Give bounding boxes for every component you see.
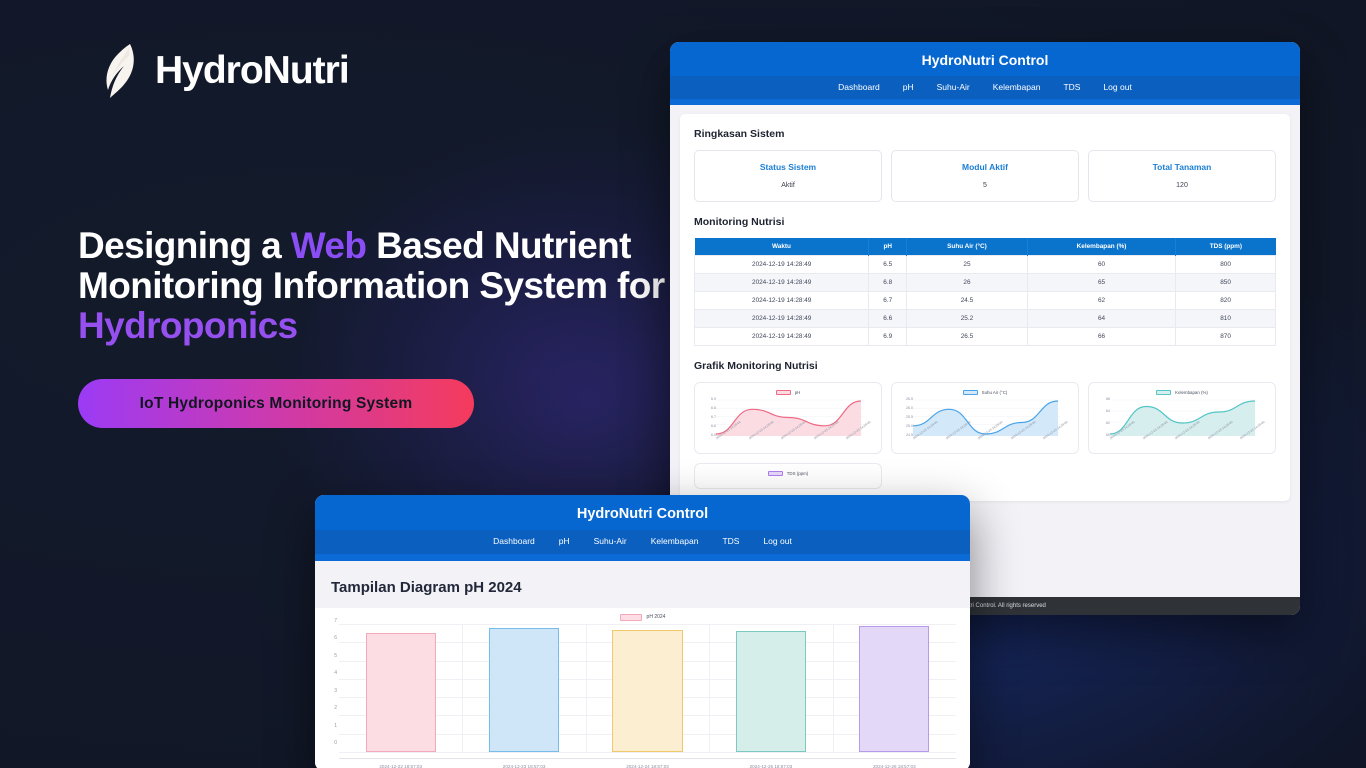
bar-slot (339, 624, 462, 752)
bar[interactable] (612, 630, 682, 753)
table-cell: 6.9 (869, 328, 907, 346)
card-value: 120 (1093, 182, 1271, 189)
table-row: 2024-12-19 14:28:496.82665850 (695, 274, 1276, 292)
table-cell: 2024-12-19 14:28:49 (695, 292, 869, 310)
x-tick: 2024-12-24 18:57:03 (586, 764, 709, 768)
table-cell: 25 (907, 256, 1028, 274)
nav-item-logout[interactable]: Log out (1103, 82, 1131, 92)
table-cell: 26 (907, 274, 1028, 292)
table-column-header: Suhu Air (°C) (907, 238, 1028, 256)
chart-legend: Kelembapan (%) (1094, 390, 1270, 395)
ph-chart-window[interactable]: HydroNutri Control Dashboard pH Suhu-Air… (315, 495, 970, 768)
table-cell: 6.7 (869, 292, 907, 310)
table-cell: 66 (1027, 328, 1175, 346)
nav-item-tds[interactable]: TDS (1063, 82, 1080, 92)
legend-label: Kelembapan (%) (1175, 390, 1208, 395)
table-row: 2024-12-19 14:28:496.926.566870 (695, 328, 1276, 346)
chart-legend: pH (700, 390, 876, 395)
chart-card-kelembapan[interactable]: Kelembapan (%)666462602024-12-19 14:28:4… (1088, 382, 1276, 454)
bar[interactable] (859, 626, 929, 752)
bar[interactable] (489, 628, 559, 752)
table-body: 2024-12-19 14:28:496.525608002024-12-19 … (695, 256, 1276, 346)
legend-swatch-icon (768, 471, 783, 476)
table-cell: 850 (1176, 274, 1276, 292)
legend-swatch-icon (620, 614, 642, 621)
navbar[interactable]: Dashboard pH Suhu-Air Kelembapan TDS Log… (315, 530, 970, 554)
app-title: HydroNutri Control (315, 495, 970, 530)
legend-label: pH 2024 (647, 614, 666, 620)
legend-label: pH (795, 390, 801, 395)
chart-legend: Suhu Air (°C) (897, 390, 1073, 395)
y-tick: 6 (321, 635, 337, 641)
mini-charts-row-2: TDS (ppm) (694, 454, 1276, 489)
y-tick: 0 (321, 740, 337, 746)
card-title: Total Tanaman (1093, 162, 1271, 172)
brand-name: HydroNutri (155, 49, 349, 93)
headline-highlight-hydroponics: Hydroponics (78, 305, 298, 346)
y-tick: 2 (321, 705, 337, 711)
legend-swatch-icon (1156, 390, 1171, 395)
table-row: 2024-12-19 14:28:496.625.264810 (695, 310, 1276, 328)
mini-charts-row: pH6.96.86.76.66.52024-12-19 14:28:492024… (694, 382, 1276, 454)
summary-card-status: Status Sistem Aktif (694, 150, 882, 202)
bar-slot (462, 624, 585, 752)
chart-legend-tds: TDS (ppm) (700, 471, 876, 476)
y-tick: 3 (321, 688, 337, 694)
table-cell: 2024-12-19 14:28:49 (695, 310, 869, 328)
monitoring-table: WaktupHSuhu Air (°C)Kelembapan (%)TDS (p… (694, 238, 1276, 346)
cta-badge[interactable]: IoT Hydroponics Monitoring System (78, 379, 474, 428)
table-cell: 800 (1176, 256, 1276, 274)
nav-item-kelembapan[interactable]: Kelembapan (993, 82, 1041, 92)
navbar-accent-strip (315, 554, 970, 561)
table-cell: 2024-12-19 14:28:49 (695, 256, 869, 274)
x-axis-ticks: 2024-12-19 14:28:492024-12-19 14:28:4920… (897, 437, 1073, 441)
table-cell: 25.2 (907, 310, 1028, 328)
summary-card-tanaman: Total Tanaman 120 (1088, 150, 1276, 202)
navbar[interactable]: Dashboard pH Suhu-Air Kelembapan TDS Log… (670, 76, 1300, 99)
summary-cards: Status Sistem Aktif Modul Aktif 5 Total … (694, 150, 1276, 202)
dashboard-panel: Ringkasan Sistem Status Sistem Aktif Mod… (680, 114, 1290, 501)
legend-label: TDS (ppm) (787, 471, 808, 476)
nav-item-dashboard[interactable]: Dashboard (493, 536, 535, 546)
card-title: Modul Aktif (896, 162, 1074, 172)
table-row: 2024-12-19 14:28:496.724.562820 (695, 292, 1276, 310)
nav-item-tds[interactable]: TDS (722, 536, 739, 546)
nav-item-suhu-air[interactable]: Suhu-Air (937, 82, 970, 92)
table-cell: 24.5 (907, 292, 1028, 310)
bar-plot-area (339, 624, 956, 752)
table-column-header: Waktu (695, 238, 869, 256)
summary-card-modul: Modul Aktif 5 (891, 150, 1079, 202)
chart-card-ph[interactable]: pH6.96.86.76.66.52024-12-19 14:28:492024… (694, 382, 882, 454)
charts-section-title: Grafik Monitoring Nutrisi (694, 360, 1276, 372)
y-axis-ticks: 76543210 (321, 618, 337, 746)
headline-part1: Designing a (78, 225, 291, 266)
navbar-accent-strip (670, 99, 1300, 105)
legend-swatch-icon (776, 390, 791, 395)
x-axis-ticks: 2024-12-19 14:28:492024-12-19 14:28:4920… (1094, 437, 1270, 441)
nav-item-ph[interactable]: pH (559, 536, 570, 546)
table-cell: 64 (1027, 310, 1175, 328)
nav-item-kelembapan[interactable]: Kelembapan (651, 536, 699, 546)
nav-item-ph[interactable]: pH (903, 82, 914, 92)
leaf-icon (100, 42, 142, 100)
brand-logo: HydroNutri (100, 42, 349, 100)
table-cell: 6.5 (869, 256, 907, 274)
card-value: 5 (896, 182, 1074, 189)
card-value: Aktif (699, 182, 877, 189)
table-cell: 62 (1027, 292, 1175, 310)
table-cell: 65 (1027, 274, 1175, 292)
table-column-header: pH (869, 238, 907, 256)
table-cell: 60 (1027, 256, 1175, 274)
bar[interactable] (736, 631, 806, 752)
chart-card-suhu-air[interactable]: Suhu Air (°C)26.526.025.525.024.52024-12… (891, 382, 1079, 454)
x-tick: 2024-12-22 18:57:03 (339, 764, 462, 768)
chart-card-tds[interactable]: TDS (ppm) (694, 463, 882, 489)
bar-slot (709, 624, 832, 752)
table-column-header: Kelembapan (%) (1027, 238, 1175, 256)
table-section-title: Monitoring Nutrisi (694, 216, 1276, 228)
x-tick: 2024-12-26 18:57:03 (833, 764, 956, 768)
app-title: HydroNutri Control (670, 42, 1300, 76)
table-cell: 820 (1176, 292, 1276, 310)
legend-label: Suhu Air (°C) (982, 390, 1008, 395)
bar[interactable] (366, 633, 436, 752)
chart-legend: pH 2024 (315, 612, 970, 622)
cta-label: IoT Hydroponics Monitoring System (140, 395, 413, 413)
x-axis-ticks: 2024-12-19 14:28:492024-12-19 14:28:4920… (700, 437, 876, 441)
bar-chart[interactable]: pH 2024 76543210 2024-12-22 18:57:032024… (315, 608, 970, 768)
x-tick: 2024-12-25 18:57:03 (709, 764, 832, 768)
table-column-header: TDS (ppm) (1176, 238, 1276, 256)
chart-page-title: Tampilan Diagram pH 2024 (315, 561, 970, 608)
table-cell: 26.5 (907, 328, 1028, 346)
table-cell: 2024-12-19 14:28:49 (695, 274, 869, 292)
table-cell: 870 (1176, 328, 1276, 346)
y-tick: 1 (321, 723, 337, 729)
table-cell: 6.6 (869, 310, 907, 328)
table-cell: 6.8 (869, 274, 907, 292)
bar-slot (833, 624, 956, 752)
table-cell: 810 (1176, 310, 1276, 328)
card-title: Status Sistem (699, 162, 877, 172)
bar-slot (586, 624, 709, 752)
table-cell: 2024-12-19 14:28:49 (695, 328, 869, 346)
y-tick: 7 (321, 618, 337, 624)
headline-highlight-web: Web (291, 225, 367, 266)
y-tick: 4 (321, 670, 337, 676)
gridline (339, 752, 956, 753)
table-row: 2024-12-19 14:28:496.52560800 (695, 256, 1276, 274)
y-tick: 5 (321, 653, 337, 659)
bar-series (339, 624, 956, 752)
legend-swatch-icon (963, 390, 978, 395)
page-title: Designing a Web Based Nutrient Monitorin… (78, 226, 678, 346)
nav-item-dashboard[interactable]: Dashboard (838, 82, 880, 92)
table-header-row: WaktupHSuhu Air (°C)Kelembapan (%)TDS (p… (695, 238, 1276, 256)
nav-item-logout[interactable]: Log out (763, 536, 791, 546)
x-axis-ticks: 2024-12-22 18:57:032024-12-23 18:57:0320… (339, 758, 956, 768)
summary-section-title: Ringkasan Sistem (694, 128, 1276, 140)
nav-item-suhu-air[interactable]: Suhu-Air (594, 536, 627, 546)
x-tick: 2024-12-23 18:57:03 (462, 764, 585, 768)
